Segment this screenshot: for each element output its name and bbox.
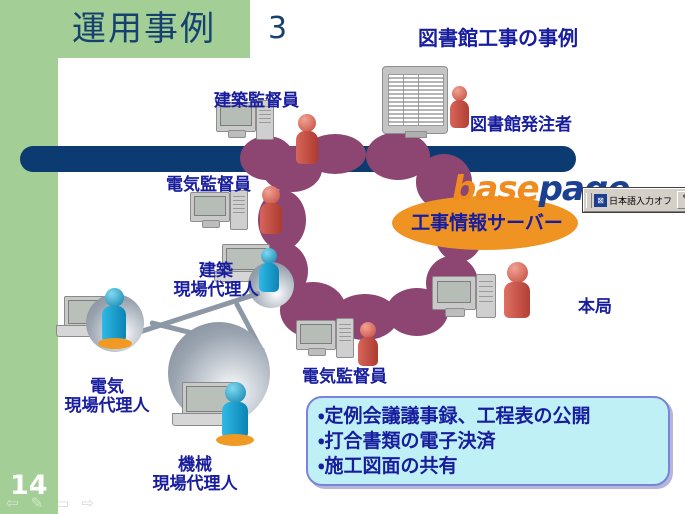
person-figure-kikai-genba-dairinin [220, 382, 250, 438]
ime-mode-icon[interactable]: ⊠ [594, 194, 607, 207]
server-rack-icon [382, 66, 448, 134]
ime-status-text: 日本語入力オフ [609, 194, 675, 207]
label-honkyoku: 本局 [578, 298, 612, 317]
label-kenchiku-genba-dairinin: 建築 現場代理人 [168, 262, 264, 300]
label-denki-kantokuin-bottom: 電気監督員 [302, 368, 387, 387]
label-kenchiku-genba-line1: 建築 [168, 262, 264, 281]
person-figure-denki-genba-dairinin [100, 288, 128, 342]
person-figure-library-client [448, 86, 470, 128]
nav-back-icon[interactable]: ⇦ [6, 494, 19, 512]
slide-canvas: basepage 工事情報サーバー ⊠ 日本語入力オフ ✎ ▤ 運用事例 3 図… [0, 0, 685, 514]
label-denki-kantokuin-top: 電気監督員 [166, 176, 251, 195]
desktop-pc-icon-honkyoku [432, 274, 504, 322]
person-figure-kenchiku-kantokuin [294, 114, 320, 164]
label-denki-genba-dairinin: 電気 現場代理人 [52, 378, 162, 416]
left-green-rail [0, 0, 58, 514]
nav-forward-icon[interactable]: ⇨ [81, 494, 94, 512]
desktop-pc-icon-denki-top [190, 190, 256, 232]
person-figure-honkyoku [502, 262, 532, 318]
ime-pad-button[interactable]: ✎ [677, 191, 685, 209]
label-kikai-genba-dairinin: 機械 現場代理人 [140, 456, 250, 494]
summary-callout-list: ・定例会議議事録、工程表の公開 ・打合書類の電子決済 ・施工図面の共有 [308, 398, 668, 479]
slide-nav-controls[interactable]: ⇦ ✎ ▭ ⇨ [6, 494, 94, 512]
summary-callout-item-3: ・施工図面の共有 [318, 454, 668, 479]
summary-callout-box: ・定例会議議事録、工程表の公開 ・打合書類の電子決済 ・施工図面の共有 [306, 396, 670, 486]
page-subtitle: 図書館工事の事例 [418, 28, 578, 48]
label-kenchiku-genba-line2: 現場代理人 [168, 281, 264, 300]
person-figure-denki-kantokuin-top [258, 186, 284, 234]
label-denki-genba-line1: 電気 [52, 378, 162, 397]
ime-toolbar[interactable]: ⊠ 日本語入力オフ ✎ ▤ [583, 188, 685, 212]
person-figure-denki-kantokuin-bottom [356, 322, 380, 366]
label-denki-genba-line2: 現場代理人 [52, 397, 162, 416]
label-toshokan-hacchusha: 図書館発注者 [470, 116, 572, 135]
title-corner-notch [58, 58, 106, 106]
server-label: 工事情報サーバー [398, 208, 576, 235]
nav-page-icon[interactable]: ▭ [55, 494, 69, 512]
summary-callout-item-2: ・打合書類の電子決済 [318, 429, 668, 454]
label-kenchiku-kantokuin: 建築監督員 [214, 92, 299, 111]
page-title-number: 3 [268, 14, 287, 44]
nav-pen-icon[interactable]: ✎ [31, 494, 44, 512]
desktop-pc-icon-denki-bottom [296, 318, 362, 362]
label-kikai-genba-line1: 機械 [140, 456, 250, 475]
page-title: 運用事例 [72, 12, 216, 46]
label-kikai-genba-line2: 現場代理人 [140, 475, 250, 494]
basepage-logo-base: base [452, 169, 539, 209]
summary-callout-item-1: ・定例会議議事録、工程表の公開 [318, 404, 668, 429]
ime-toolbar-grip[interactable] [586, 193, 592, 208]
